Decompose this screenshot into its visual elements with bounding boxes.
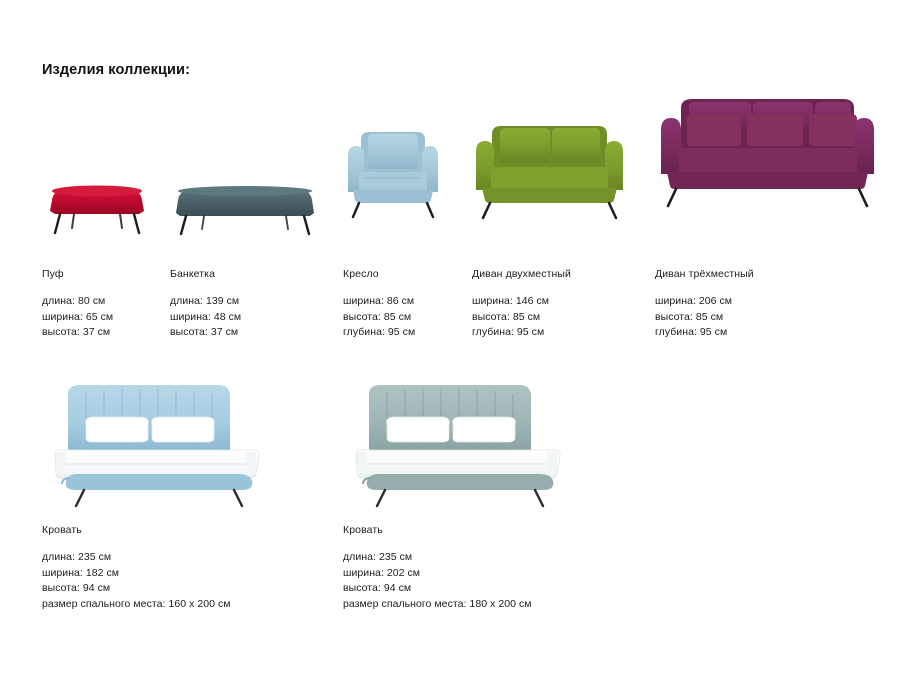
- collection-products-page: Изделия коллекции:: [0, 0, 900, 675]
- spec-line: размер спального места: 180 x 200 см: [343, 597, 583, 613]
- product-name: Кровать: [42, 524, 282, 536]
- bed-thumbnail: [343, 378, 583, 508]
- product-specs: ширина: 146 см высота: 85 см глубина: 95…: [472, 294, 571, 341]
- product-specs: ширина: 86 см высота: 85 см глубина: 95 …: [343, 294, 415, 341]
- spec-line: ширина: 65 см: [42, 310, 113, 326]
- spec-line: глубина: 95 см: [472, 325, 571, 341]
- product-specs: длина: 139 см ширина: 48 см высота: 37 с…: [170, 294, 241, 341]
- pouf-icon: [42, 162, 152, 237]
- pouf-info: Пуф длина: 80 см ширина: 65 см высота: 3…: [42, 268, 113, 341]
- product-name: Кресло: [343, 268, 415, 280]
- product-specs: ширина: 206 см высота: 85 см глубина: 95…: [655, 294, 754, 341]
- product-name: Кровать: [343, 524, 583, 536]
- product-card-armchair: Кресло ширина: 86 см высота: 85 см глуби…: [343, 134, 463, 344]
- product-name: Диван двухместный: [472, 268, 571, 280]
- bench-icon: [170, 167, 320, 237]
- spec-line: ширина: 202 см: [343, 566, 583, 582]
- sofa-three-seat-thumbnail: [655, 88, 880, 210]
- spec-line: длина: 235 см: [42, 550, 282, 566]
- bed-180-info: Кровать длина: 235 см ширина: 202 см выс…: [343, 524, 583, 612]
- product-card-sofa-two-seat: Диван двухместный ширина: 146 см высота:…: [472, 130, 647, 350]
- product-card-bed-180: Кровать длина: 235 см ширина: 202 см выс…: [343, 378, 583, 612]
- spec-line: ширина: 48 см: [170, 310, 241, 326]
- product-name: Диван трёхместный: [655, 268, 754, 280]
- spec-line: длина: 139 см: [170, 294, 241, 310]
- sofa-two-seat-info: Диван двухместный ширина: 146 см высота:…: [472, 268, 571, 341]
- spec-line: высота: 85 см: [655, 310, 754, 326]
- spec-line: ширина: 206 см: [655, 294, 754, 310]
- bed-icon: [343, 378, 571, 508]
- product-card-bench: Банкетка длина: 139 см ширина: 48 см выс…: [170, 150, 330, 345]
- spec-line: высота: 37 см: [42, 325, 113, 341]
- product-name: Пуф: [42, 268, 113, 280]
- product-card-bed-160: Кровать длина: 235 см ширина: 182 см выс…: [42, 378, 282, 612]
- spec-line: ширина: 146 см: [472, 294, 571, 310]
- bed-160-info: Кровать длина: 235 см ширина: 182 см выс…: [42, 524, 282, 612]
- spec-line: глубина: 95 см: [343, 325, 415, 341]
- bench-thumbnail: [170, 167, 320, 237]
- sofa-three-seat-info: Диван трёхместный ширина: 206 см высота:…: [655, 268, 754, 341]
- sofa-three-seat-icon: [655, 88, 880, 210]
- spec-line: высота: 94 см: [343, 581, 583, 597]
- product-card-sofa-three-seat: Диван трёхместный ширина: 206 см высота:…: [655, 118, 885, 350]
- spec-line: ширина: 182 см: [42, 566, 282, 582]
- spec-line: длина: 80 см: [42, 294, 113, 310]
- armchair-info: Кресло ширина: 86 см высота: 85 см глуби…: [343, 268, 415, 341]
- product-specs: длина: 80 см ширина: 65 см высота: 37 см: [42, 294, 113, 341]
- product-specs: длина: 235 см ширина: 202 см высота: 94 …: [343, 550, 583, 612]
- spec-line: глубина: 95 см: [655, 325, 754, 341]
- bed-icon: [42, 378, 270, 508]
- spec-line: размер спального места: 160 x 200 см: [42, 597, 282, 613]
- page-title: Изделия коллекции:: [42, 62, 190, 78]
- spec-line: длина: 235 см: [343, 550, 583, 566]
- armchair-thumbnail: [343, 120, 443, 220]
- pouf-thumbnail: [42, 162, 152, 237]
- bed-thumbnail: [42, 378, 282, 508]
- spec-line: высота: 85 см: [472, 310, 571, 326]
- spec-line: высота: 94 см: [42, 581, 282, 597]
- spec-line: ширина: 86 см: [343, 294, 415, 310]
- product-specs: длина: 235 см ширина: 182 см высота: 94 …: [42, 550, 282, 612]
- spec-line: высота: 85 см: [343, 310, 415, 326]
- bench-info: Банкетка длина: 139 см ширина: 48 см выс…: [170, 268, 241, 341]
- sofa-two-seat-thumbnail: [472, 112, 627, 222]
- product-card-pouf: Пуф длина: 80 см ширина: 65 см высота: 3…: [42, 150, 170, 345]
- spec-line: высота: 37 см: [170, 325, 241, 341]
- armchair-icon: [343, 120, 443, 220]
- sofa-two-seat-icon: [472, 112, 627, 222]
- product-name: Банкетка: [170, 268, 241, 280]
